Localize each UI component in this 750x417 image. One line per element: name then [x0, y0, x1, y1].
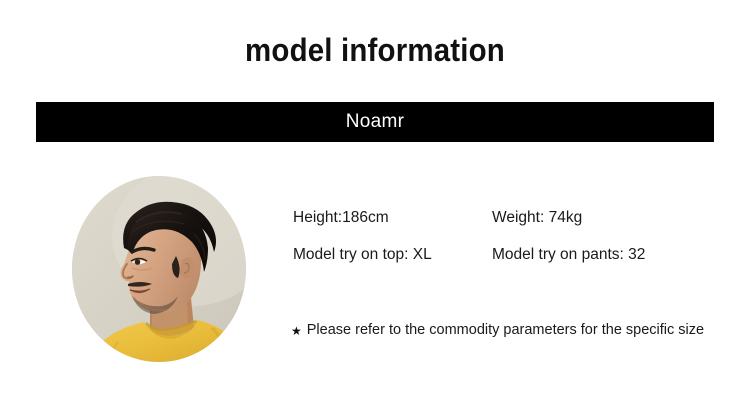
spec-row: Height:186cm Weight: 74kg: [293, 206, 723, 230]
spec-weight: Weight: 74kg: [492, 206, 723, 230]
size-footnote: ★ Please refer to the commodity paramete…: [291, 320, 704, 340]
spec-height: Height:186cm: [293, 206, 492, 230]
size-footnote-text: Please refer to the commodity parameters…: [307, 320, 704, 340]
model-specs: Height:186cm Weight: 74kg Model try on t…: [293, 206, 723, 280]
model-portrait: [72, 176, 246, 362]
spec-top-size: Model try on top: XL: [293, 243, 492, 267]
page-title: model information: [30, 30, 720, 70]
portrait-illustration: [72, 176, 246, 362]
model-name-bar: Noamr: [36, 102, 714, 142]
model-name-label: Noamr: [346, 112, 405, 132]
star-icon: ★: [291, 321, 302, 341]
spec-pants-size: Model try on pants: 32: [492, 243, 723, 267]
model-information-card: model information Noamr: [0, 0, 750, 417]
spec-row: Model try on top: XL Model try on pants:…: [293, 243, 723, 267]
